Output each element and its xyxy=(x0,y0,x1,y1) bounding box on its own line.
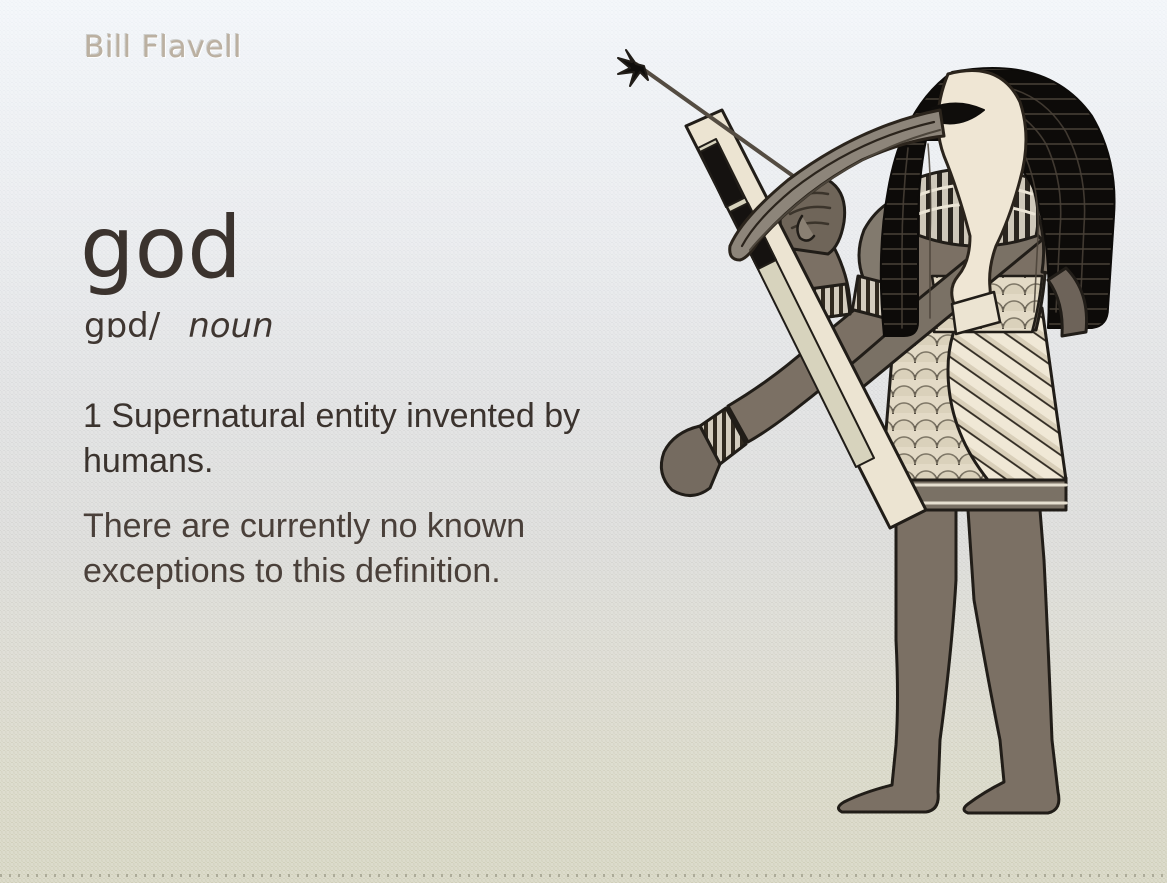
definition-note: There are currently no known exceptions … xyxy=(83,504,613,594)
thoth-illustration xyxy=(596,40,1156,840)
pronunciation-row: gɒd/noun xyxy=(84,306,274,346)
stylus-feather-tip xyxy=(618,50,648,86)
bottom-dotted-rule xyxy=(0,874,1167,877)
slide-canvas: Bill Flavell god gɒd/noun 1 Supernatural… xyxy=(0,0,1167,883)
page-title-headword: god xyxy=(80,205,242,291)
byline-author: Bill Flavell xyxy=(84,30,242,65)
pronunciation-ipa: gɒd/ xyxy=(84,306,160,346)
far-leg xyxy=(838,510,956,812)
part-of-speech: noun xyxy=(188,306,273,346)
definition-sense-1: 1 Supernatural entity invented by humans… xyxy=(83,394,623,484)
near-leg xyxy=(964,510,1059,813)
